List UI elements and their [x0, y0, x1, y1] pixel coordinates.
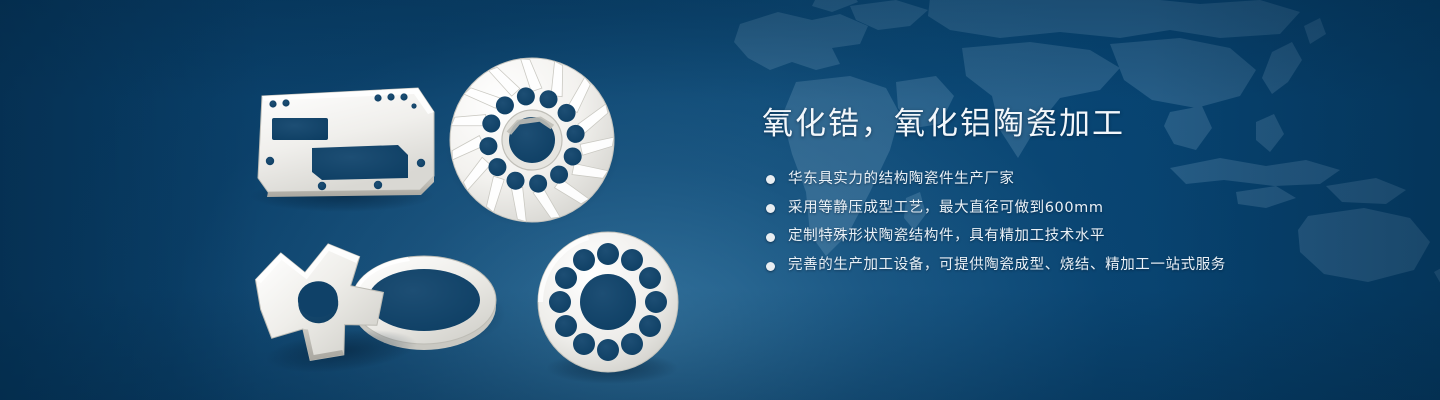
- bullet-dot-icon: [766, 262, 775, 271]
- list-item-label: 完善的生产加工设备，可提供陶瓷成型、烧结、精加工一站式服务: [788, 255, 1226, 277]
- list-item-label: 华东具实力的结构陶瓷件生产厂家: [788, 169, 1015, 191]
- list-item: 华东具实力的结构陶瓷件生产厂家: [766, 169, 1382, 191]
- banner-copy: 氧化锆，氧化铝陶瓷加工 华东具实力的结构陶瓷件生产厂家 采用等静压成型工艺，最大…: [762, 104, 1382, 277]
- hero-banner: 氧化锆，氧化铝陶瓷加工 华东具实力的结构陶瓷件生产厂家 采用等静压成型工艺，最大…: [0, 0, 1440, 400]
- bullet-dot-icon: [766, 204, 775, 213]
- bullet-dot-icon: [766, 233, 775, 242]
- list-item: 完善的生产加工设备，可提供陶瓷成型、烧结、精加工一站式服务: [766, 255, 1382, 277]
- ceramic-perforated-disc-image: [538, 232, 678, 384]
- list-item: 定制特殊形状陶瓷结构件，具有精加工技术水平: [766, 226, 1382, 248]
- feature-list: 华东具实力的结构陶瓷件生产厂家 采用等静压成型工艺，最大直径可做到600mm 定…: [766, 169, 1382, 277]
- page-title: 氧化锆，氧化铝陶瓷加工: [762, 104, 1382, 145]
- ceramic-machined-plate-image: [250, 88, 434, 212]
- product-image-cluster: [0, 0, 720, 400]
- bullet-dot-icon: [766, 175, 775, 184]
- ceramic-impeller-rotor-image: [433, 47, 631, 240]
- list-item: 采用等静压成型工艺，最大直径可做到600mm: [766, 198, 1382, 220]
- list-item-label: 定制特殊形状陶瓷结构件，具有精加工技术水平: [788, 226, 1105, 248]
- list-item-label: 采用等静压成型工艺，最大直径可做到600mm: [788, 198, 1104, 220]
